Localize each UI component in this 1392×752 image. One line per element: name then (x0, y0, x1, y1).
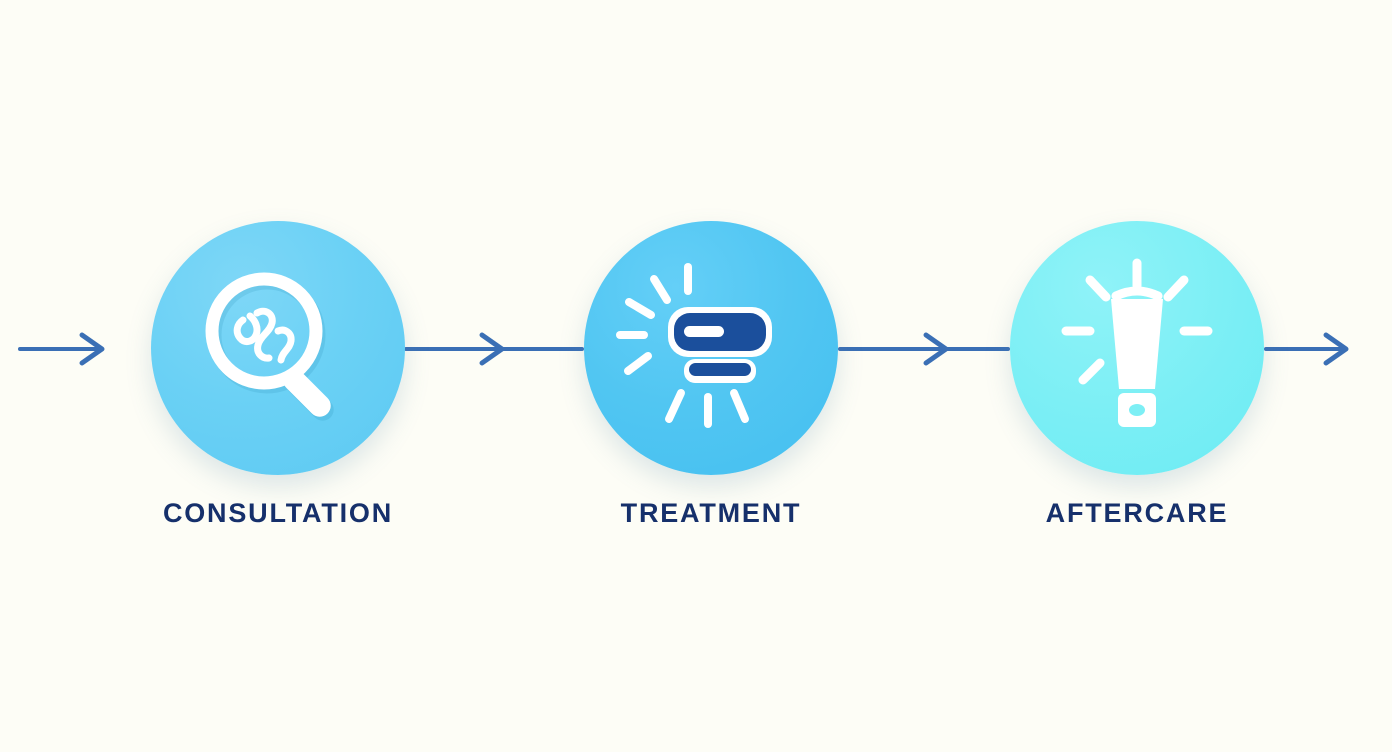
step-treatment[interactable] (584, 221, 838, 475)
step-aftercare-label: AFTERCARE (947, 498, 1327, 529)
laser-device-icon (584, 221, 838, 475)
cream-tube-icon (1010, 221, 1264, 475)
step-aftercare[interactable] (1010, 221, 1264, 475)
magnifying-glass-skin-analysis-icon (151, 221, 405, 475)
step-consultation-label: CONSULTATION (88, 498, 468, 529)
process-flow-diagram: CONSULTATION (0, 0, 1392, 752)
step-consultation[interactable] (151, 221, 405, 475)
step-treatment-label: TREATMENT (521, 498, 901, 529)
